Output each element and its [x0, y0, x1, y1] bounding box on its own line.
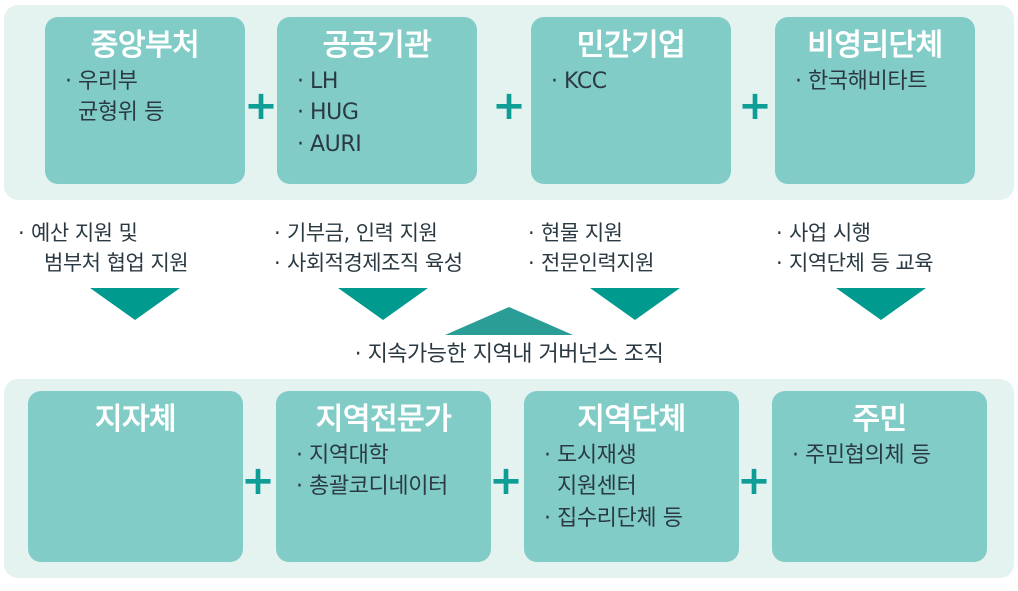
- arrow-down-icon: [338, 288, 428, 320]
- arrow-down-icon: [90, 288, 180, 320]
- role-line: 현물 지원: [528, 219, 654, 249]
- org-card-public-institution[interactable]: 공공기관 LH HUG AURI: [277, 17, 477, 184]
- plus-icon: +: [738, 86, 772, 126]
- org-card-title: 공공기관: [277, 27, 477, 64]
- role-line: 지역단체 등 교육: [776, 249, 933, 279]
- org-card-item-list: 주민협의체 등: [772, 440, 987, 471]
- role-line: 전문인력지원: [528, 249, 654, 279]
- org-card-item-list: 한국해비타트: [775, 66, 975, 97]
- org-card-title: 주민: [772, 401, 987, 438]
- arrow-down-icon: [836, 288, 926, 320]
- org-card-item: 도시재생: [544, 440, 733, 471]
- org-card-private-company[interactable]: 민간기업 KCC: [531, 17, 731, 184]
- org-card-item-list: 지역대학 총괄코디네이터: [276, 440, 491, 502]
- role-description-public-institution: 기부금, 인력 지원 사회적경제조직 육성: [274, 219, 463, 279]
- org-card-item: LH: [297, 66, 471, 97]
- org-card-item: AURI: [297, 129, 471, 160]
- role-description-nonprofit-organization: 사업 시행 지역단체 등 교육: [776, 219, 933, 279]
- org-card-item: 한국해비타트: [795, 66, 969, 97]
- org-card-item: 지원센터: [544, 471, 733, 502]
- org-card-item-list: 도시재생 지원센터 집수리단체 등: [524, 440, 739, 534]
- org-card-item: 총괄코디네이터: [296, 471, 485, 502]
- org-card-item: 집수리단체 등: [544, 503, 733, 534]
- governance-caption: · 지속가능한 지역내 거버넌스 조직: [0, 336, 1018, 368]
- plus-icon: +: [489, 461, 523, 501]
- org-card-title: 중앙부처: [45, 27, 245, 64]
- org-card-item-list: LH HUG AURI: [277, 66, 477, 160]
- org-card-title: 지자체: [28, 401, 243, 438]
- org-card-title: 비영리단체: [775, 27, 975, 64]
- role-line: 범부처 협업 지원: [18, 249, 188, 279]
- arrow-down-icon: [590, 288, 680, 320]
- role-line: 예산 지원 및: [18, 219, 188, 249]
- org-card-title: 지역단체: [524, 401, 739, 438]
- org-card-item-list: KCC: [531, 66, 731, 97]
- org-card-central-government[interactable]: 중앙부처 우리부 균형위 등: [45, 17, 245, 184]
- org-card-local-government[interactable]: 지자체: [28, 391, 243, 562]
- org-card-item: 균형위 등: [65, 97, 239, 128]
- role-description-private-company: 현물 지원 전문인력지원: [528, 219, 654, 279]
- governance-diagram: 중앙부처 우리부 균형위 등 + 공공기관 LH HUG AURI + 민간기업…: [0, 0, 1018, 591]
- role-line: 기부금, 인력 지원: [274, 219, 463, 249]
- org-card-item: 지역대학: [296, 440, 485, 471]
- arrow-up-icon: [445, 307, 573, 335]
- role-line: 사회적경제조직 육성: [274, 249, 463, 279]
- plus-icon: +: [737, 461, 771, 501]
- org-card-regional-organization[interactable]: 지역단체 도시재생 지원센터 집수리단체 등: [524, 391, 739, 562]
- org-card-item: KCC: [551, 66, 725, 97]
- role-line: 사업 시행: [776, 219, 933, 249]
- org-card-title: 지역전문가: [276, 401, 491, 438]
- org-card-item: 우리부: [65, 66, 239, 97]
- org-card-item: 주민협의체 등: [792, 440, 981, 471]
- org-card-item-list: 우리부 균형위 등: [45, 66, 245, 128]
- org-card-title: 민간기업: [531, 27, 731, 64]
- org-card-nonprofit-organization[interactable]: 비영리단체 한국해비타트: [775, 17, 975, 184]
- role-description-central-government: 예산 지원 및 범부처 협업 지원: [18, 219, 188, 279]
- plus-icon: +: [492, 86, 526, 126]
- plus-icon: +: [241, 461, 275, 501]
- org-card-item: HUG: [297, 97, 471, 128]
- org-card-regional-expert[interactable]: 지역전문가 지역대학 총괄코디네이터: [276, 391, 491, 562]
- org-card-residents[interactable]: 주민 주민협의체 등: [772, 391, 987, 562]
- plus-icon: +: [244, 86, 278, 126]
